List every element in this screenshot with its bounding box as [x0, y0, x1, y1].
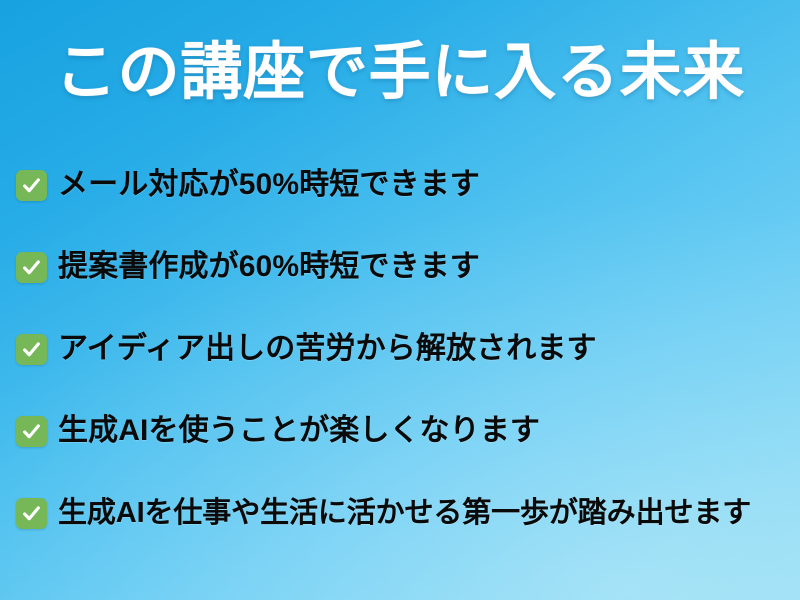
- page-title: この講座で手に入る未来: [55, 42, 745, 104]
- list-item-label: アイディア出しの苦労から解放されます: [58, 332, 597, 366]
- list-item: アイディア出しの苦労から解放されます: [16, 327, 786, 371]
- list-item: 提案書作成が60%時短できます: [16, 245, 786, 289]
- list-item-label: メール対応が50%時短できます: [58, 168, 480, 202]
- checkbox-checked-icon: [16, 498, 47, 529]
- list-item: 生成AIを仕事や生活に活かせる第一歩が踏み出せます: [16, 491, 786, 535]
- list-item-label: 提案書作成が60%時短できます: [58, 250, 480, 284]
- title-container: この講座で手に入る未来: [0, 42, 800, 104]
- slide-canvas: この講座で手に入る未来 メール対応が50%時短できます 提案書作成が60%時短で…: [0, 0, 800, 600]
- checkbox-checked-icon: [16, 334, 47, 365]
- checkbox-checked-icon: [16, 416, 47, 447]
- list-item: 生成AIを使うことが楽しくなります: [16, 409, 786, 453]
- checkbox-checked-icon: [16, 252, 47, 283]
- list-item-label: 生成AIを使うことが楽しくなります: [58, 414, 540, 448]
- list-item-label: 生成AIを仕事や生活に活かせる第一歩が踏み出せます: [58, 497, 751, 529]
- slide-content: この講座で手に入る未来 メール対応が50%時短できます 提案書作成が60%時短で…: [0, 0, 800, 600]
- checkbox-checked-icon: [16, 170, 47, 201]
- benefits-checklist: メール対応が50%時短できます 提案書作成が60%時短できます アイディア出しの…: [16, 163, 786, 535]
- list-item: メール対応が50%時短できます: [16, 163, 786, 207]
